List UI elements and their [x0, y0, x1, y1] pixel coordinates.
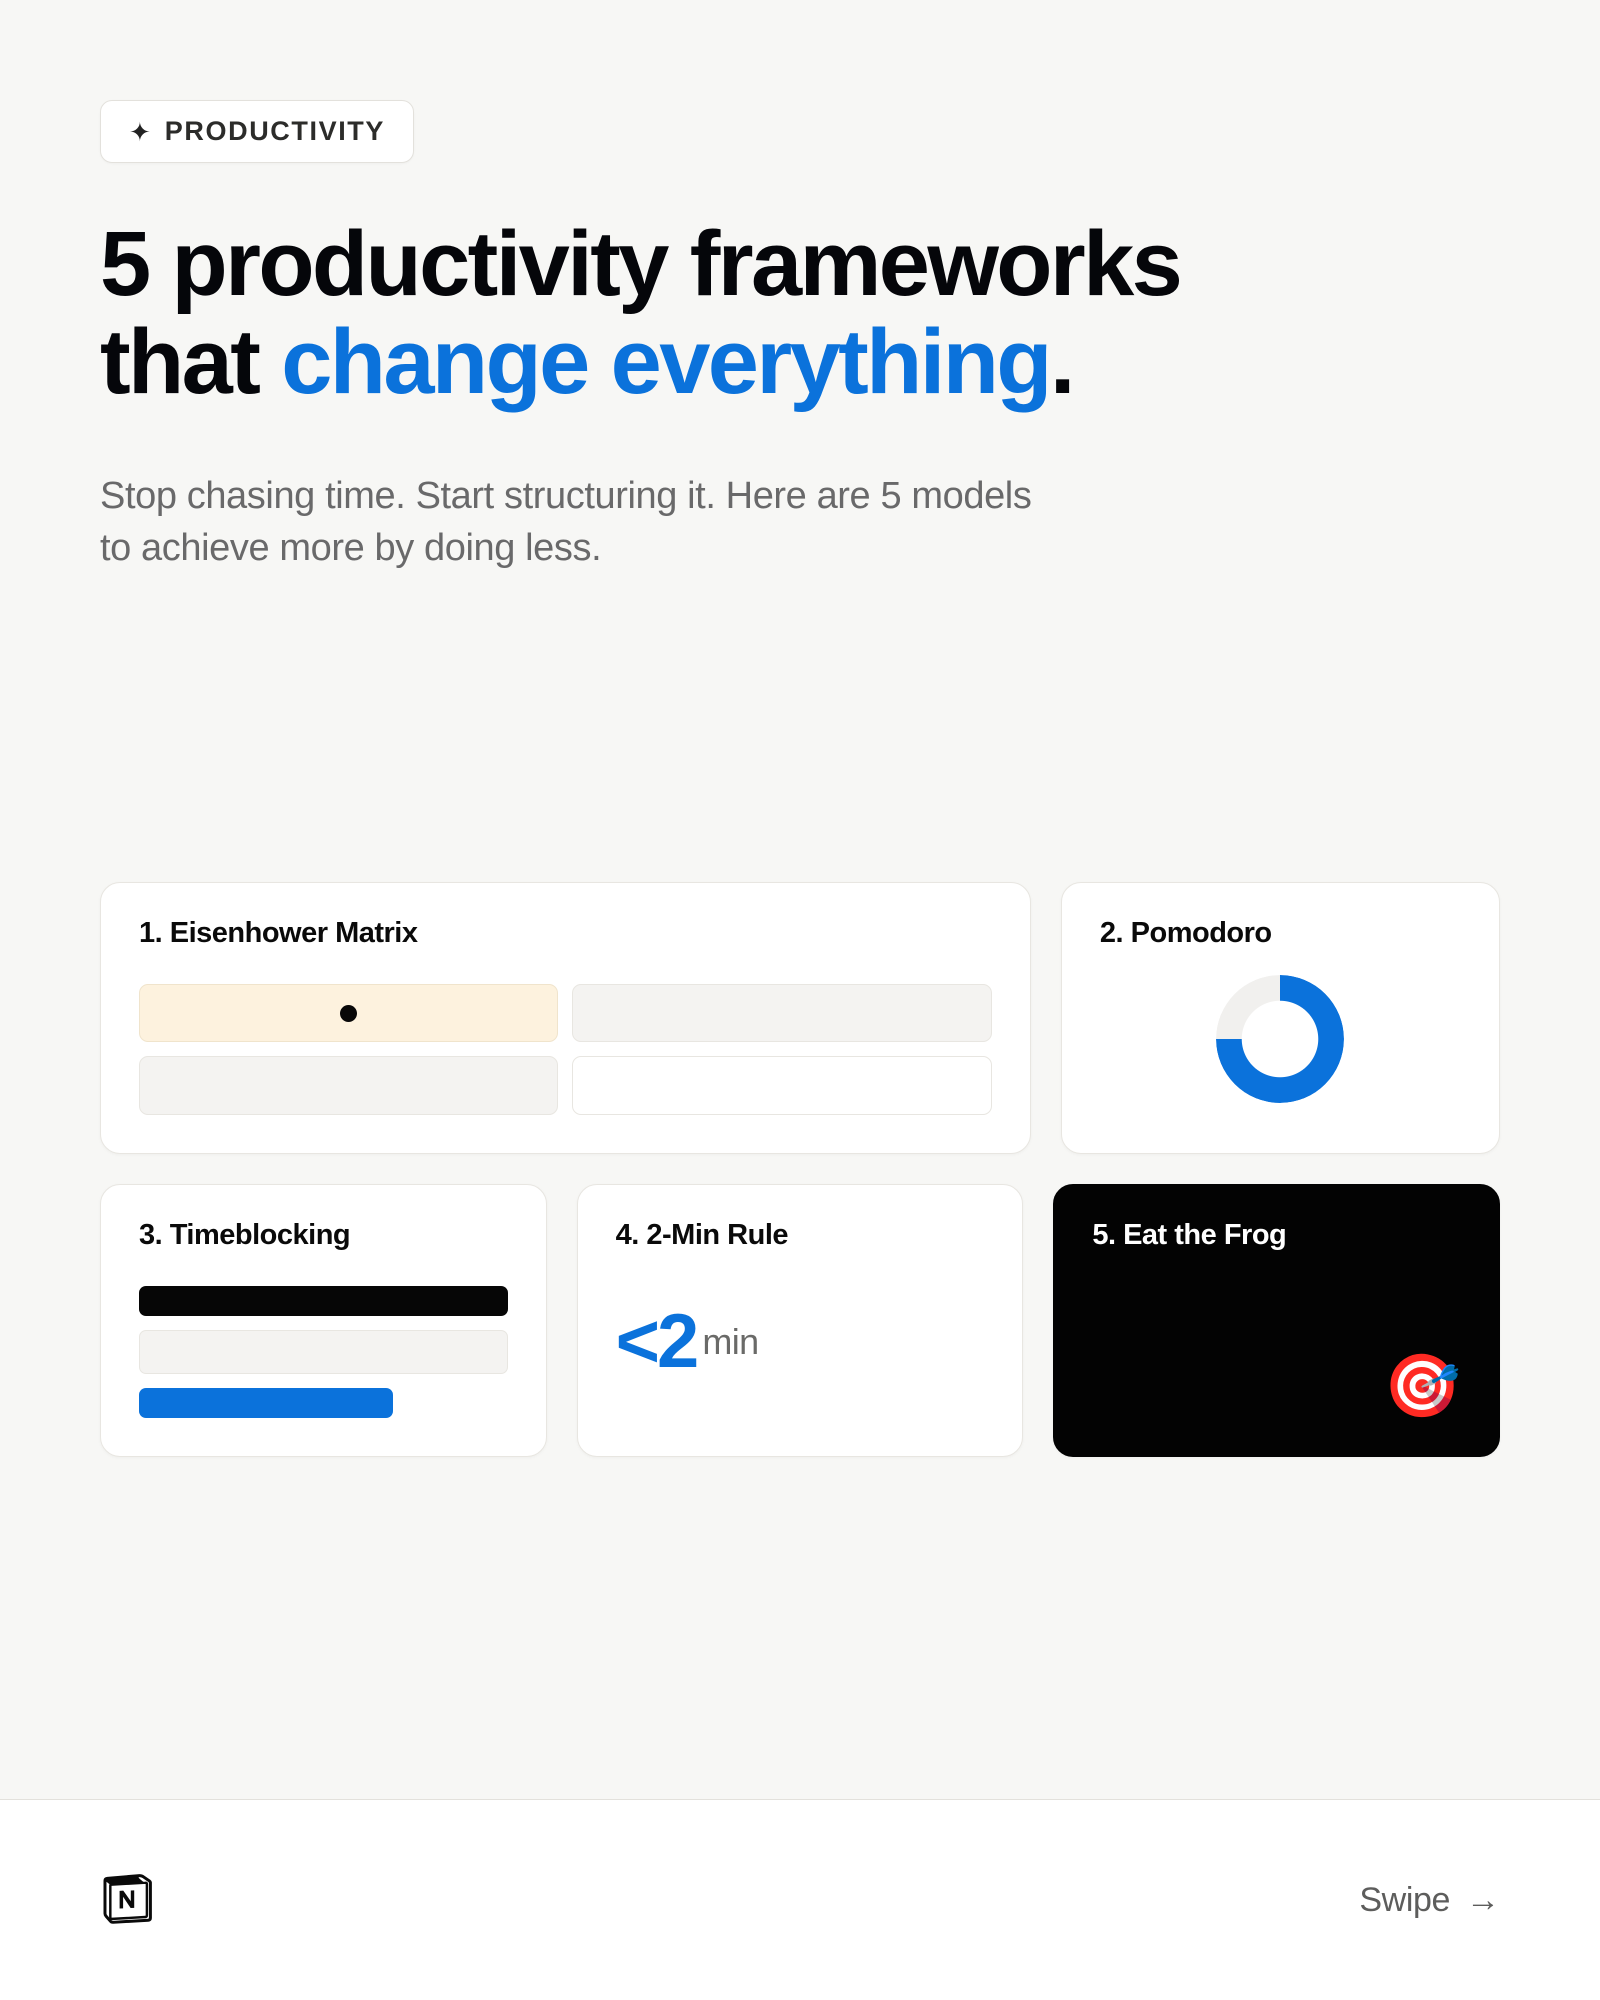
headline-line-2-suffix: . — [1050, 311, 1073, 413]
eisenhower-quadrant-grid — [139, 984, 992, 1115]
card-eat-the-frog[interactable]: 5. Eat the Frog 🎯 — [1053, 1184, 1500, 1457]
card-title: 3. Timeblocking — [139, 1219, 508, 1252]
headline-line-1: 5 productivity frameworks — [100, 213, 1180, 315]
swipe-label: Swipe — [1359, 1881, 1450, 1920]
slide-footer: Swipe → — [0, 1799, 1600, 2000]
notion-logo — [100, 1872, 156, 1928]
pomodoro-progress-donut — [1216, 975, 1344, 1103]
page-subtitle: Stop chasing time. Start structuring it.… — [100, 470, 1100, 574]
card-timeblocking[interactable]: 3. Timeblocking — [100, 1184, 547, 1457]
headline-line-2-prefix: that — [100, 311, 281, 413]
card-pomodoro[interactable]: 2. Pomodoro — [1061, 882, 1500, 1154]
category-badge-label: PRODUCTIVITY — [165, 118, 385, 145]
arrow-right-icon: → — [1466, 1883, 1500, 1917]
quadrant-urgent-important[interactable] — [139, 984, 558, 1043]
pomodoro-donut-wrap — [1100, 964, 1461, 1115]
card-title: 1. Eisenhower Matrix — [139, 917, 992, 950]
card-eisenhower-matrix[interactable]: 1. Eisenhower Matrix — [100, 882, 1031, 1154]
page-title: 5 productivity frameworks that change ev… — [100, 215, 1500, 412]
two-min-value: <2 — [616, 1304, 697, 1380]
time-block-deep-work — [139, 1388, 393, 1418]
timeblocking-bars — [139, 1286, 508, 1418]
slide-content: ✦ PRODUCTIVITY 5 productivity frameworks… — [0, 0, 1600, 1799]
card-title: 4. 2-Min Rule — [616, 1219, 985, 1252]
priority-dot-icon — [340, 1005, 357, 1022]
quadrant-not-urgent-not-important[interactable] — [572, 1056, 991, 1115]
swipe-hint[interactable]: Swipe → — [1359, 1881, 1500, 1920]
target-icon: 🎯 — [1384, 1356, 1461, 1418]
eat-the-frog-visual: 🎯 — [1092, 1252, 1461, 1418]
sparkle-icon: ✦ — [129, 119, 151, 145]
time-block-focus — [139, 1286, 508, 1316]
card-title: 2. Pomodoro — [1100, 917, 1461, 950]
framework-card-grid: 1. Eisenhower Matrix 2. Pomodoro — [100, 882, 1500, 1491]
card-title: 5. Eat the Frog — [1092, 1219, 1461, 1252]
quadrant-urgent-not-important[interactable] — [139, 1056, 558, 1115]
card-row-bottom: 3. Timeblocking 4. 2-Min Rule <2 min 5. … — [100, 1184, 1500, 1457]
subtitle-line-2: to achieve more by doing less. — [100, 527, 601, 569]
card-row-top: 1. Eisenhower Matrix 2. Pomodoro — [100, 882, 1500, 1154]
card-two-min-rule[interactable]: 4. 2-Min Rule <2 min — [577, 1184, 1024, 1457]
category-badge[interactable]: ✦ PRODUCTIVITY — [100, 100, 414, 163]
subtitle-line-1: Stop chasing time. Start structuring it.… — [100, 475, 1031, 517]
two-min-unit: min — [702, 1321, 758, 1363]
quadrant-not-urgent-important[interactable] — [572, 984, 991, 1043]
time-block-buffer — [139, 1330, 508, 1374]
headline-accent: change everything — [281, 311, 1050, 413]
two-min-figure: <2 min — [616, 1266, 985, 1418]
